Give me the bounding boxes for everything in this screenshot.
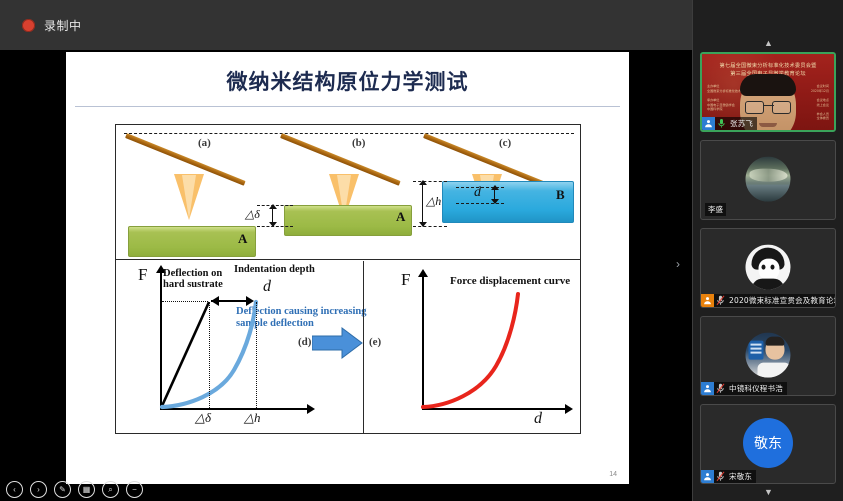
participant-name-bar: 张苏飞 [702,117,757,130]
avatar: 敬东 [743,418,793,468]
participant-tile-zhangsufei[interactable]: 第七届全国微束分析标准化技术委员会暨 第三届全国电子显微学教育论坛 主办单位 全… [700,52,836,132]
cartoon-eye-left [762,265,766,270]
photo-badge [749,341,764,360]
more-options-icon[interactable]: − [126,481,143,498]
left-chart-tick-delta-h: △h [244,410,261,426]
sample-block-a1 [128,226,256,257]
page-title: 微纳米结构原位力学测试 [66,66,629,96]
panel-label-b: (b) [352,137,365,149]
afm-schematic-panel: (a) A (b) A △δ [116,125,580,260]
avatar [746,245,791,290]
title-divider [75,106,620,107]
microphone-muted-icon[interactable] [714,294,727,307]
slide-number: 14 [609,471,617,478]
host-badge-icon [701,470,714,483]
cartoon-face [759,259,780,281]
recording-indicator-icon [22,19,35,32]
recording-label: 录制中 [44,17,82,34]
participant-tile-chengshuhao[interactable]: 中镜科仪程书浩 [700,316,836,396]
participant-rail: ▲ 第七届全国微束分析标准化技术委员会暨 第三届全国电子显微学教育论坛 主办单位… [692,0,843,501]
shared-screen-stage: 微纳米结构原位力学测试 (a) A [0,50,692,501]
lens-left [745,101,764,114]
force-curve-panels: F Deflection on hard sustrate Indentatio… [116,260,580,434]
delta-delta-arrow [272,208,273,223]
previous-slide-icon[interactable]: ‹ [6,481,23,498]
conference-banner-line1: 第七届全国微束分析标准化技术委员会暨 [720,63,817,69]
lens-right [772,101,791,114]
left-chart-dotted-delta-h [256,302,257,408]
zoom-tool-icon[interactable]: ⌕ [102,481,119,498]
hair [740,74,796,96]
presentation-slide[interactable]: 微纳米结构原位力学测试 (a) A [66,52,629,484]
cartoon-body [752,279,785,290]
conference-banner-right-text: 会议时间 2020年12月 会议地点 线上会议 参会人员 全体委员 [811,84,829,121]
participant-name-bar: 宋敬东 [701,470,756,483]
reference-dashed-line [124,133,574,134]
sample-block-b-label: B [556,187,565,203]
sample-block-a2-label: A [396,209,405,225]
left-chart-tick-delta-delta: △δ [195,410,211,426]
avatar-image-landscape [746,157,791,202]
presentation-controls[interactable]: ‹ › ✎ ▦ ⌕ − [6,481,143,498]
next-slide-icon[interactable]: › [30,481,47,498]
participant-tile-lisheng[interactable]: 李盛 [700,140,836,220]
avatar-image-photo [746,333,791,378]
left-chart-dotted-delta-delta [209,302,210,408]
cartoon-eye-right [771,265,775,270]
right-chart-curve [356,260,576,434]
lens-bridge [763,105,774,106]
recording-bar: 录制中 [0,0,692,50]
right-chart-x-axis-symbol: d [534,410,542,428]
participant-name: 张苏飞 [728,118,753,129]
host-badge-icon [701,294,714,307]
microphone-icon[interactable] [715,117,728,130]
figure-frame: (a) A (b) A △δ [115,124,581,434]
avatar [746,157,791,202]
probe-tip-highlight-a [182,175,196,219]
indent-depth-arrow [494,189,495,200]
photo-hair [766,337,785,346]
participant-name-bar: 2020微束标准宣贯会及教育论坛 [701,294,836,307]
avatar-image-cartoon [746,245,791,290]
host-badge-icon [702,117,715,130]
delta-delta-label: △δ [245,207,260,222]
participant-name: 李盛 [705,203,726,216]
mouth [759,123,777,127]
left-chart-horizontal-dotted [162,301,208,302]
microphone-muted-icon[interactable] [714,382,727,395]
all-slides-icon[interactable]: ▦ [78,481,95,498]
participant-tile-songjingdong[interactable]: 敬东 宋敬东 [700,404,836,484]
participant-name-bar: 中镜科仪程书浩 [701,382,787,395]
panel-label-d: (d) [298,336,311,348]
participant-name: 2020微束标准宣贯会及教育论坛 [727,295,836,306]
chevron-right-icon[interactable]: › [676,258,680,270]
sample-block-a2 [284,205,412,236]
host-badge-icon [701,382,714,395]
photo-coat [758,363,791,378]
avatar [746,333,791,378]
participant-name: 中镜科仪程书浩 [727,383,783,394]
panel-label-c: (c) [499,137,511,149]
microphone-muted-icon[interactable] [714,470,727,483]
sample-block-a1-label: A [238,231,247,247]
figure-inner-divider [363,261,364,434]
delta-h-label: △h [426,194,441,209]
delta-h-arrow [422,184,423,223]
panel-label-a: (a) [198,137,211,149]
pen-tool-icon[interactable]: ✎ [54,481,71,498]
avatar-initials: 敬东 [743,418,793,468]
glasses-icon [744,101,792,112]
participant-name: 宋敬东 [727,471,752,482]
scroll-up-icon[interactable]: ▲ [693,36,843,50]
indent-depth-label: d [474,185,481,201]
scroll-down-icon[interactable]: ▼ [693,485,843,499]
zoom-meeting-window: 录制中 微纳米结构原位力学测试 (a) A [0,0,843,501]
participant-tile-forum-host[interactable]: 2020微束标准宣贯会及教育论坛 [700,228,836,308]
